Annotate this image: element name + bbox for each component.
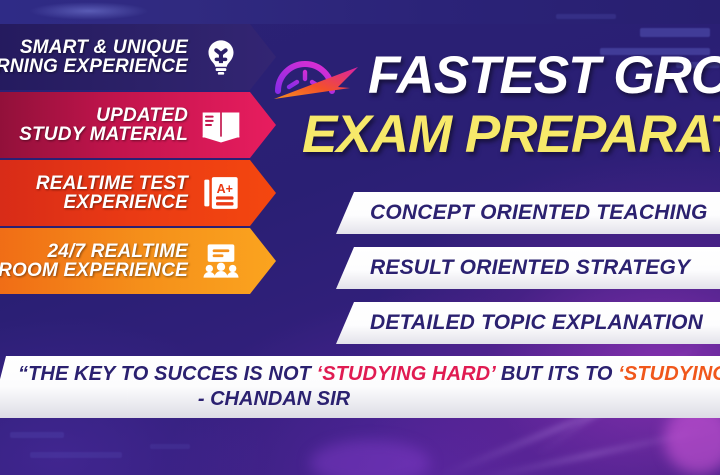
benefit-bar-label: DETAILED TOPIC EXPLANATION xyxy=(370,311,703,335)
report-card-a-plus-icon: A+ xyxy=(200,172,242,214)
feature-item-smart-unique[interactable]: SMART & UNIQUE LEARNING EXPERIENCE xyxy=(0,24,276,90)
benefit-bar-detailed-topic-explanation[interactable]: DETAILED TOPIC EXPLANATION xyxy=(336,302,720,344)
feature-label: REALTIME TEST EXPERIENCE xyxy=(36,174,188,213)
benefit-bar-label: RESULT ORIENTED STRATEGY xyxy=(370,256,690,280)
benefit-bar-list: CONCEPT ORIENTED TEACHING RESULT ORIENTE… xyxy=(336,192,720,357)
feature-label-line1: SMART & UNIQUE xyxy=(0,38,188,57)
circuit-line xyxy=(150,444,190,449)
circuit-line xyxy=(556,14,616,19)
feature-label-line1: UPDATED xyxy=(19,106,188,125)
quote-part-3: BUT ITS TO xyxy=(501,363,613,385)
benefit-bar-label: CONCEPT ORIENTED TEACHING xyxy=(370,201,708,225)
feature-label-line2: CLASSROOM EXPERIENCE xyxy=(0,261,188,280)
quote-part-studying-smart: ‘STUDYING SMART’ xyxy=(618,363,720,385)
quote-text: “THE KEY TO SUCCES IS NOT ‘STUDYING HARD… xyxy=(18,362,720,386)
circuit-line xyxy=(30,452,122,458)
open-book-icon xyxy=(200,104,242,146)
headline-line2: EXAM PREPARATION xyxy=(302,108,720,161)
quote-part-studying-hard: ‘STUDYING HARD’ xyxy=(317,363,496,385)
quote-author: - CHANDAN SIR xyxy=(18,388,720,411)
feature-label-line2: STUDY MATERIAL xyxy=(19,125,188,144)
classroom-presentation-icon xyxy=(200,240,242,282)
speedometer-arrow-icon xyxy=(268,47,364,103)
headline-line1: FASTEST GROWING xyxy=(368,49,720,102)
quote-part-1: “THE KEY TO SUCCES IS NOT xyxy=(18,363,311,385)
feature-item-realtime-test[interactable]: REALTIME TEST EXPERIENCE A+ xyxy=(0,160,276,226)
svg-text:A+: A+ xyxy=(217,182,233,196)
quote-strip: “THE KEY TO SUCCES IS NOT ‘STUDYING HARD… xyxy=(0,356,720,418)
feature-label: SMART & UNIQUE LEARNING EXPERIENCE xyxy=(0,38,188,77)
circuit-line xyxy=(10,432,64,438)
feature-label: UPDATED STUDY MATERIAL xyxy=(19,106,188,145)
feature-label-line2: LEARNING EXPERIENCE xyxy=(0,57,188,76)
promo-banner: SMART & UNIQUE LEARNING EXPERIENCE UPDAT… xyxy=(0,0,720,475)
benefit-bar-result-oriented-strategy[interactable]: RESULT ORIENTED STRATEGY xyxy=(336,247,720,289)
feature-label-line2: EXPERIENCE xyxy=(36,193,188,212)
feature-list: SMART & UNIQUE LEARNING EXPERIENCE UPDAT… xyxy=(0,24,276,296)
benefit-bar-concept-oriented-teaching[interactable]: CONCEPT ORIENTED TEACHING xyxy=(336,192,720,234)
headline-row-primary: FASTEST GROWING xyxy=(268,44,720,106)
background-top-glow xyxy=(29,2,149,20)
feature-label: 24/7 REALTIME CLASSROOM EXPERIENCE xyxy=(0,242,188,281)
feature-item-classroom[interactable]: 24/7 REALTIME CLASSROOM EXPERIENCE xyxy=(0,228,276,294)
headline-block: FASTEST GROWING EXAM PREPARATION xyxy=(268,44,720,161)
feature-label-line1: REALTIME TEST xyxy=(36,174,188,193)
feature-item-updated-study-material[interactable]: UPDATED STUDY MATERIAL xyxy=(0,92,276,158)
lightbulb-icon xyxy=(200,36,242,78)
feature-label-line1: 24/7 REALTIME xyxy=(0,242,188,261)
circuit-line xyxy=(640,28,710,37)
